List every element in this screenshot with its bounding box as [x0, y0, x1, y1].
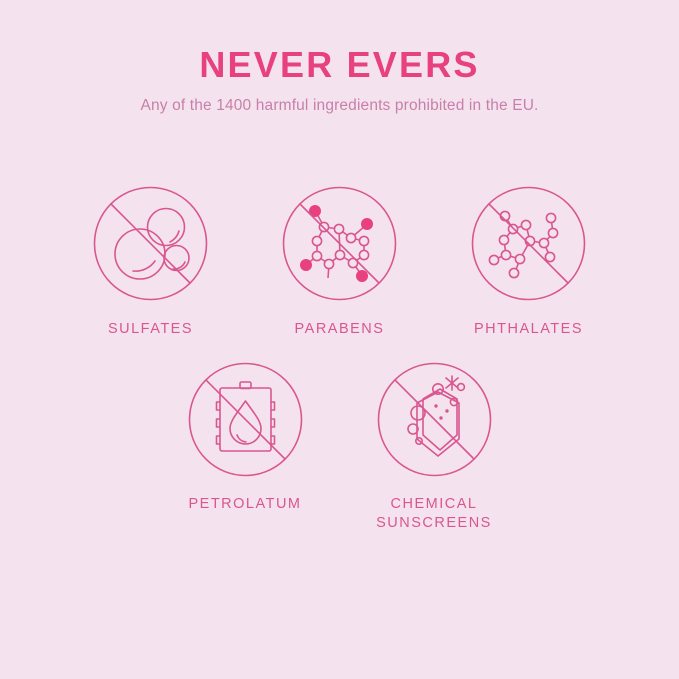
- no-chemical-sunscreen-shield-icon: [376, 361, 493, 478]
- page-subtitle: Any of the 1400 harmful ingredients proh…: [0, 84, 679, 116]
- grid-row-2: PETROLATUM: [0, 361, 679, 534]
- grid-item-label: PARABENS: [295, 320, 385, 340]
- grid-item-label: SULFATES: [108, 320, 193, 340]
- page-title: NEVER EVERS: [0, 0, 679, 84]
- no-phthalates-molecule-icon: [470, 185, 587, 302]
- never-evers-grid: SULFATES: [0, 185, 679, 534]
- grid-item-parabens: PARABENS: [281, 185, 398, 340]
- never-evers-infographic: NEVER EVERS Any of the 1400 harmful ingr…: [0, 0, 679, 679]
- grid-item-label: CHEMICAL SUNSCREENS: [376, 495, 492, 534]
- grid-item-phthalates: PHTHALATES: [470, 185, 587, 340]
- no-parabens-molecule-icon: [281, 185, 398, 302]
- grid-item-label: PETROLATUM: [188, 495, 301, 515]
- header: NEVER EVERS Any of the 1400 harmful ingr…: [0, 0, 679, 115]
- grid-item-label: PHTHALATES: [474, 320, 583, 340]
- grid-row-1: SULFATES: [0, 185, 679, 340]
- grid-item-chemical-sunscreens: CHEMICAL SUNSCREENS: [376, 361, 493, 534]
- grid-item-petrolatum: PETROLATUM: [187, 361, 304, 515]
- grid-item-sulfates: SULFATES: [92, 185, 209, 340]
- no-petrolatum-oil-can-icon: [187, 361, 304, 478]
- no-sulfates-bubbles-icon: [92, 185, 209, 302]
